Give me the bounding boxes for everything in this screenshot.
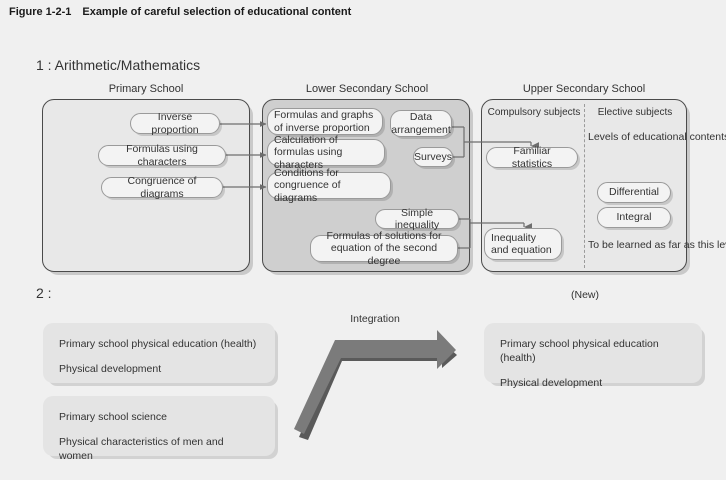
node-formulas-using-characters[interactable]: Formulas using characters [98,145,226,166]
flatbox-new-integrated: Primary school physical education (healt… [484,323,702,383]
node-conditions-congruence-diagrams[interactable]: Conditions for congruence of diagrams [267,172,391,199]
node-data-arrangement[interactable]: Data arrangement [390,110,452,137]
figure-title-text: Example of careful selection of educatio… [82,6,351,18]
upper-panel-divider [584,104,585,268]
flatbox-line: Physical characteristics of men and wome… [59,435,259,463]
elective-note-bottom: To be learned as far as this level. [588,239,684,252]
flatbox-line: Primary school science [59,410,259,424]
flatbox-line: Primary school physical education (healt… [500,337,686,365]
flatbox-primary-science: Primary school science Physical characte… [43,396,275,456]
node-integral[interactable]: Integral [597,207,671,228]
figure-title: Figure 1-2-1Example of careful selection… [9,6,351,18]
flatbox-physical-education: Primary school physical education (healt… [43,323,275,383]
section-2-label: 2 : [36,285,52,301]
node-differential[interactable]: Differential [597,182,671,203]
section-1-label: 1 : Arithmetic/Mathematics [36,57,200,73]
subcolumn-title-elective: Elective subjects [586,107,684,118]
subcolumn-title-compulsory: Compulsory subjects [484,107,584,118]
figure-canvas: Figure 1-2-1Example of careful selection… [0,0,726,480]
node-formulas-solutions-second-degree[interactable]: Formulas of solutions for equation of th… [310,235,458,262]
flatbox-line: Primary school physical education (healt… [59,337,259,351]
node-surveys[interactable]: Surveys [413,147,453,167]
column-title-primary: Primary School [42,83,250,95]
column-title-upper: Upper Secondary School [482,83,686,95]
flatbox-line: Physical development [59,362,259,376]
column-title-lower: Lower Secondary School [264,83,470,95]
node-simple-inequality[interactable]: Simple inequality [375,209,459,229]
node-formulas-graphs-inverse-proportion[interactable]: Formulas and graphs of inverse proportio… [267,108,383,135]
node-calculation-formulas-characters[interactable]: Calculation of formulas using characters [267,139,385,166]
node-congruence-of-diagrams[interactable]: Congruence of diagrams [101,177,223,198]
elective-note-top: Levels of educational contents are the s… [588,131,684,144]
figure-number: Figure 1-2-1 [9,6,71,18]
node-inequality-and-equation[interactable]: Inequality and equation [484,228,562,260]
node-inverse-proportion[interactable]: Inverse proportion [130,113,220,134]
integration-label: Integration [335,313,415,326]
new-label: (New) [545,289,625,302]
flatbox-line: Physical development [500,376,686,390]
node-familiar-statistics[interactable]: Familiar statistics [486,147,578,168]
